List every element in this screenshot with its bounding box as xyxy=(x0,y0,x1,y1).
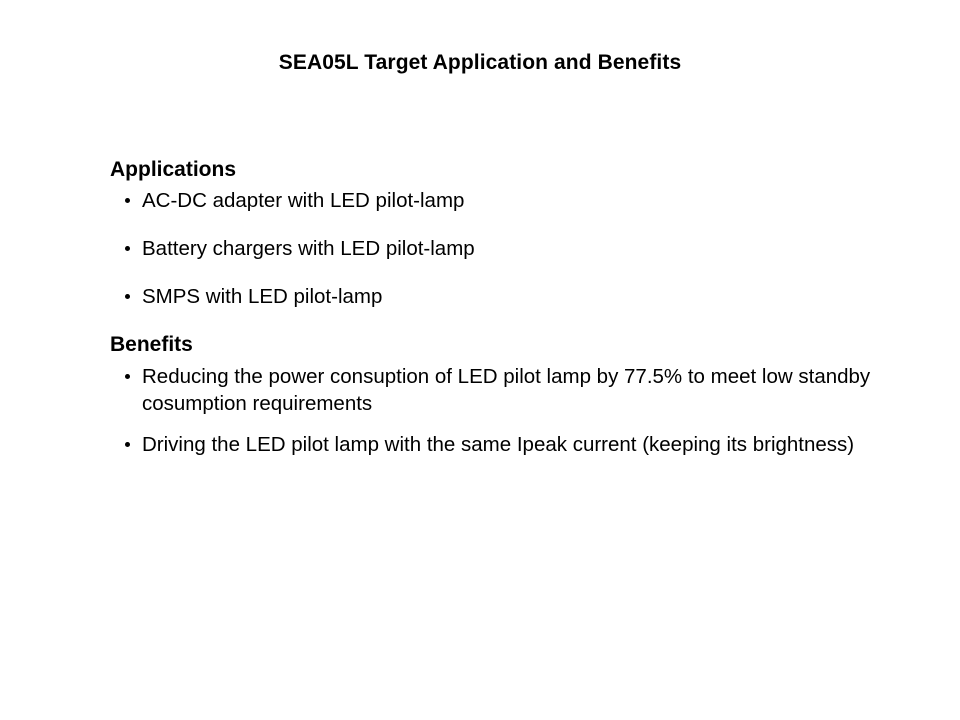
list-item-text: Reducing the power consuption of LED pil… xyxy=(142,363,882,417)
bullet-dot-icon xyxy=(125,374,130,379)
bullet-dot-icon xyxy=(125,198,130,203)
list-item-text: AC-DC adapter with LED pilot-lamp xyxy=(142,187,900,214)
bullet-dot-icon xyxy=(125,246,130,251)
applications-bullet-list: AC-DC adapter with LED pilot-lamp Batter… xyxy=(110,187,900,310)
list-item-text: Driving the LED pilot lamp with the same… xyxy=(142,431,882,458)
list-item: Driving the LED pilot lamp with the same… xyxy=(110,431,900,458)
section-heading-applications: Applications xyxy=(110,157,900,183)
page-title: SEA05L Target Application and Benefits xyxy=(0,50,960,76)
list-item: Reducing the power consuption of LED pil… xyxy=(110,363,900,417)
section-heading-benefits: Benefits xyxy=(110,332,900,358)
list-item: Battery chargers with LED pilot-lamp xyxy=(110,235,900,262)
bullet-dot-icon xyxy=(125,294,130,299)
list-item: AC-DC adapter with LED pilot-lamp xyxy=(110,187,900,214)
benefits-bullet-list: Reducing the power consuption of LED pil… xyxy=(110,363,900,458)
list-item-text: SMPS with LED pilot-lamp xyxy=(142,283,900,310)
list-item-text: Battery chargers with LED pilot-lamp xyxy=(142,235,900,262)
bullet-dot-icon xyxy=(125,442,130,447)
slide-canvas: SEA05L Target Application and Benefits A… xyxy=(0,0,960,720)
list-item: SMPS with LED pilot-lamp xyxy=(110,283,900,310)
slide-body: Applications AC-DC adapter with LED pilo… xyxy=(110,157,900,472)
